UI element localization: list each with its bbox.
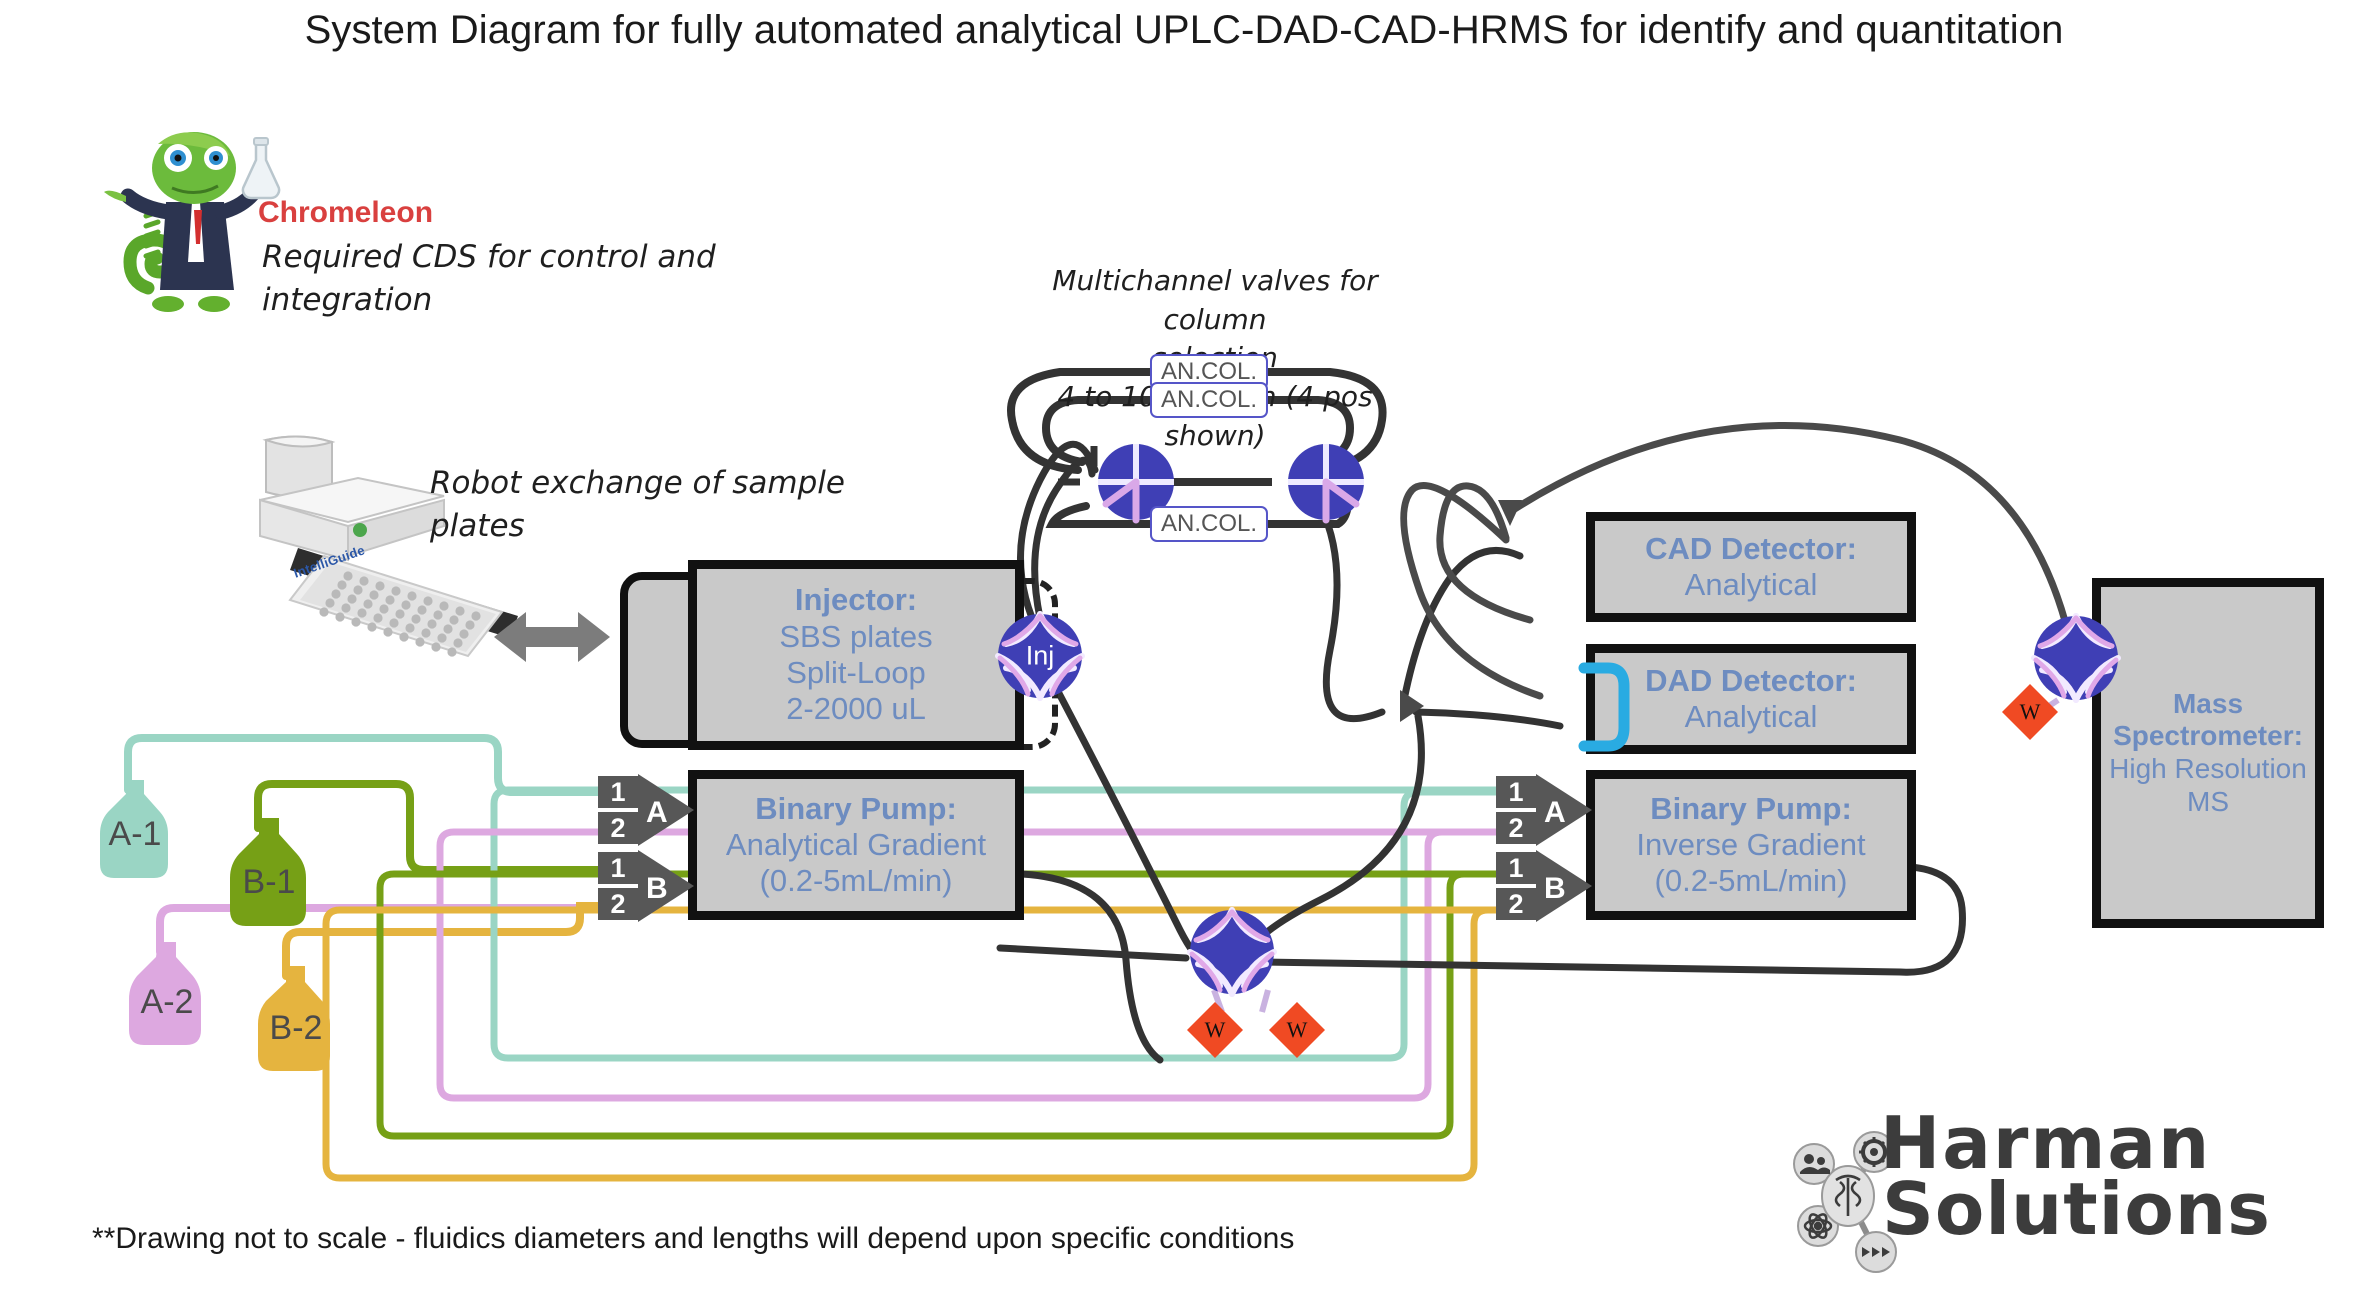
valve-col-right[interactable] xyxy=(1278,434,1374,530)
flow-tee-dad xyxy=(1416,712,1560,726)
cad-line-1: Analytical xyxy=(1685,567,1818,603)
dad-title: DAD Detector: xyxy=(1645,663,1857,699)
diagram-canvas: System Diagram for fully automated analy… xyxy=(0,0,2368,1292)
bottle-a1[interactable]: A-1 xyxy=(96,780,174,880)
ms-title: Mass Spectrometer: xyxy=(2101,688,2315,754)
pump-analytical-inlet-b2[interactable]: 2 xyxy=(598,888,638,920)
waste-split-left-label: W xyxy=(1205,1017,1226,1043)
valve-split[interactable] xyxy=(1180,900,1284,1004)
bottle-b2-label: B-2 xyxy=(270,1009,323,1074)
robot-caption: Robot exchange of sample plates xyxy=(430,462,850,548)
pump-analytical-channel-a-label: A xyxy=(646,796,668,830)
instrument-pump-inverse[interactable]: Binary Pump: Inverse Gradient (0.2-5mL/m… xyxy=(1586,770,1916,920)
valve-injector-label: Inj xyxy=(1026,641,1055,672)
column-chip-2[interactable]: AN.COL. xyxy=(1150,382,1268,418)
column-chip-3[interactable]: AN.COL. xyxy=(1150,506,1268,542)
pump-analytical-inlet-a1[interactable]: 1 xyxy=(598,776,638,808)
cad-title: CAD Detector: xyxy=(1645,531,1857,567)
injector-line-1: SBS plates xyxy=(779,619,932,655)
cds-caption: Required CDS for control and integration xyxy=(262,236,822,322)
pump-inverse-channel-b-label: B xyxy=(1544,872,1566,906)
company-name-line2: Solutions xyxy=(1882,1176,2271,1242)
bottle-a1-label: A-1 xyxy=(109,815,162,880)
bottle-b1-label: B-1 xyxy=(243,863,296,928)
dad-line-1: Analytical xyxy=(1685,699,1818,735)
waste-split-right-label: W xyxy=(1287,1017,1308,1043)
flow-col-to-det xyxy=(1320,506,1382,719)
injector-title: Injector: xyxy=(795,582,917,618)
bottle-b1[interactable]: B-1 xyxy=(226,818,312,928)
pump-analytical-title: Binary Pump: xyxy=(755,791,957,827)
bottle-a2[interactable]: A-2 xyxy=(126,942,208,1048)
ms-line-2: MS xyxy=(2187,786,2229,819)
pump-inverse-inlet-b1[interactable]: 1 xyxy=(1496,852,1536,884)
flow-pump-to-injvalve xyxy=(1022,874,1160,1060)
flow-split-left-in xyxy=(1000,948,1186,958)
footnote: **Drawing not to scale - fluidics diamet… xyxy=(92,1222,1294,1256)
pump-inverse-title: Binary Pump: xyxy=(1650,791,1852,827)
bottle-a2-label: A-2 xyxy=(141,983,194,1048)
double-arrow-icon xyxy=(492,602,612,672)
instrument-pump-analytical[interactable]: Binary Pump: Analytical Gradient (0.2-5m… xyxy=(688,770,1024,920)
waste-ms-label: W xyxy=(2020,699,2041,725)
instrument-cad-detector[interactable]: CAD Detector: Analytical xyxy=(1586,512,1916,622)
dad-flowcell-icon xyxy=(1578,662,1638,752)
chromeleon-brand-label: Chromeleon xyxy=(258,196,433,230)
bottle-b2[interactable]: B-2 xyxy=(254,966,338,1074)
pump-analytical-inlet-b1[interactable]: 1 xyxy=(598,852,638,884)
instrument-injector[interactable]: Injector: SBS plates Split-Loop 2-2000 u… xyxy=(688,560,1024,750)
company-logo-text: Harman Solutions xyxy=(1880,1110,2271,1242)
pump-inverse-channel-a-label: A xyxy=(1544,796,1566,830)
pump-analytical-line-2: (0.2-5mL/min) xyxy=(760,863,953,899)
pump-inverse-line-2: (0.2-5mL/min) xyxy=(1655,863,1848,899)
valve-caption-line1: Multichannel valves for column xyxy=(1015,262,1415,339)
pump-inverse-inlet-b2[interactable]: 2 xyxy=(1496,888,1536,920)
pump-analytical-channel-b-label: B xyxy=(646,872,668,906)
pump-analytical-line-1: Analytical Gradient xyxy=(726,827,986,863)
pump-analytical-inlet-a2[interactable]: 2 xyxy=(598,812,638,844)
pump-inverse-inlet-a1[interactable]: 1 xyxy=(1496,776,1536,808)
injector-line-3: 2-2000 uL xyxy=(786,691,926,727)
pump-inverse-inlet-a2[interactable]: 2 xyxy=(1496,812,1536,844)
injector-line-2: Split-Loop xyxy=(786,655,926,691)
pump-inverse-line-1: Inverse Gradient xyxy=(1636,827,1865,863)
ms-line-1: High Resolution xyxy=(2109,753,2307,786)
